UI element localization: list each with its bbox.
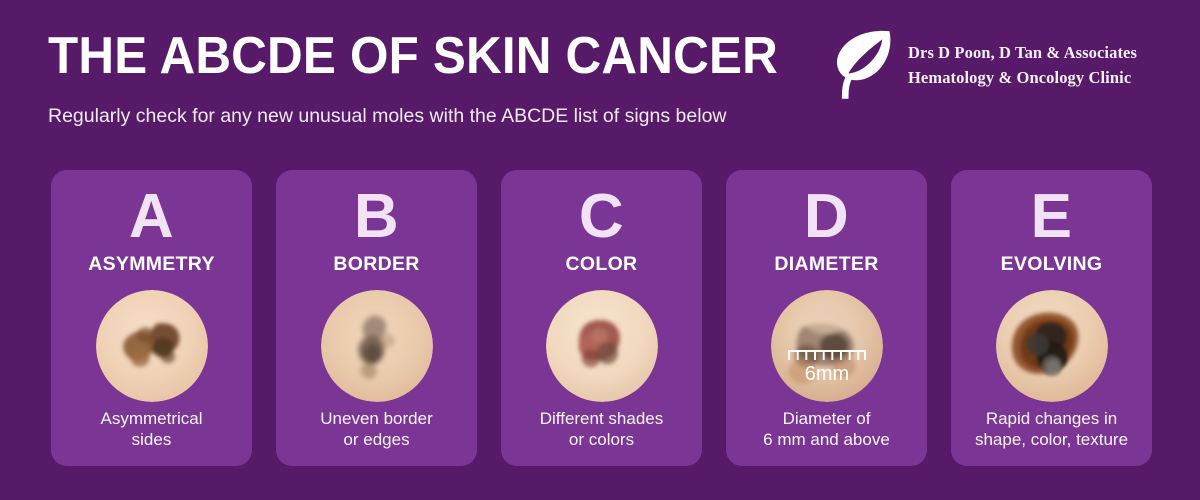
clinic-logo-text: Drs D Poon, D Tan & Associates Hematolog… xyxy=(908,39,1137,89)
card-label: COLOR xyxy=(501,252,702,276)
card-evolving[interactable]: E EVOLVING xyxy=(951,170,1152,466)
clinic-name-line2: Hematology & Oncology Clinic xyxy=(908,66,1137,89)
card-label: DIAMETER xyxy=(726,252,927,276)
card-description-line2: or edges xyxy=(282,429,471,450)
card-description-line1: Asymmetrical xyxy=(57,408,246,429)
card-description-line1: Uneven border xyxy=(282,408,471,429)
card-description-line1: Rapid changes in xyxy=(957,408,1146,429)
card-description-line1: Diameter of xyxy=(732,408,921,429)
card-description: Asymmetrical sides xyxy=(57,408,246,450)
card-label: EVOLVING xyxy=(951,252,1152,276)
card-description: Different shades or colors xyxy=(507,408,696,450)
card-border[interactable]: B BORDER xyxy=(276,170,477,466)
card-color[interactable]: C COLOR xyxy=(501,170,702,466)
mole-diameter-photo: 6mm xyxy=(771,290,883,402)
card-description-line1: Different shades xyxy=(507,408,696,429)
mole-border-photo xyxy=(321,290,433,402)
card-letter: B xyxy=(276,182,477,252)
card-description-line2: 6 mm and above xyxy=(732,429,921,450)
card-asymmetry[interactable]: A ASYMMETRY xyxy=(51,170,252,466)
card-diameter[interactable]: D DIAMETER xyxy=(726,170,927,466)
header: THE ABCDE OF SKIN CANCER Regularly check… xyxy=(0,0,1200,150)
card-description-line2: sides xyxy=(57,429,246,450)
clinic-name-line1: Drs D Poon, D Tan & Associates xyxy=(908,41,1137,64)
mole-color-photo xyxy=(546,290,658,402)
card-description: Uneven border or edges xyxy=(282,408,471,450)
infographic-root: THE ABCDE OF SKIN CANCER Regularly check… xyxy=(0,0,1200,500)
mole-asymmetry-photo xyxy=(96,290,208,402)
card-description: Rapid changes in shape, color, texture xyxy=(957,408,1146,450)
leaf-icon xyxy=(832,28,894,100)
clinic-logo: Drs D Poon, D Tan & Associates Hematolog… xyxy=(832,24,1162,104)
card-letter: E xyxy=(951,182,1152,252)
page-subtitle: Regularly check for any new unusual mole… xyxy=(48,103,727,129)
abcde-card-row: A ASYMMETRY xyxy=(51,170,1151,466)
card-description-line2: or colors xyxy=(507,429,696,450)
page-title: THE ABCDE OF SKIN CANCER xyxy=(48,26,778,86)
card-label: ASYMMETRY xyxy=(51,252,252,276)
card-letter: C xyxy=(501,182,702,252)
card-label: BORDER xyxy=(276,252,477,276)
card-letter: A xyxy=(51,182,252,252)
card-description-line2: shape, color, texture xyxy=(957,429,1146,450)
ruler-measure-label: 6mm xyxy=(804,363,848,385)
card-letter: D xyxy=(726,182,927,252)
mole-evolving-photo xyxy=(996,290,1108,402)
card-description: Diameter of 6 mm and above xyxy=(732,408,921,450)
